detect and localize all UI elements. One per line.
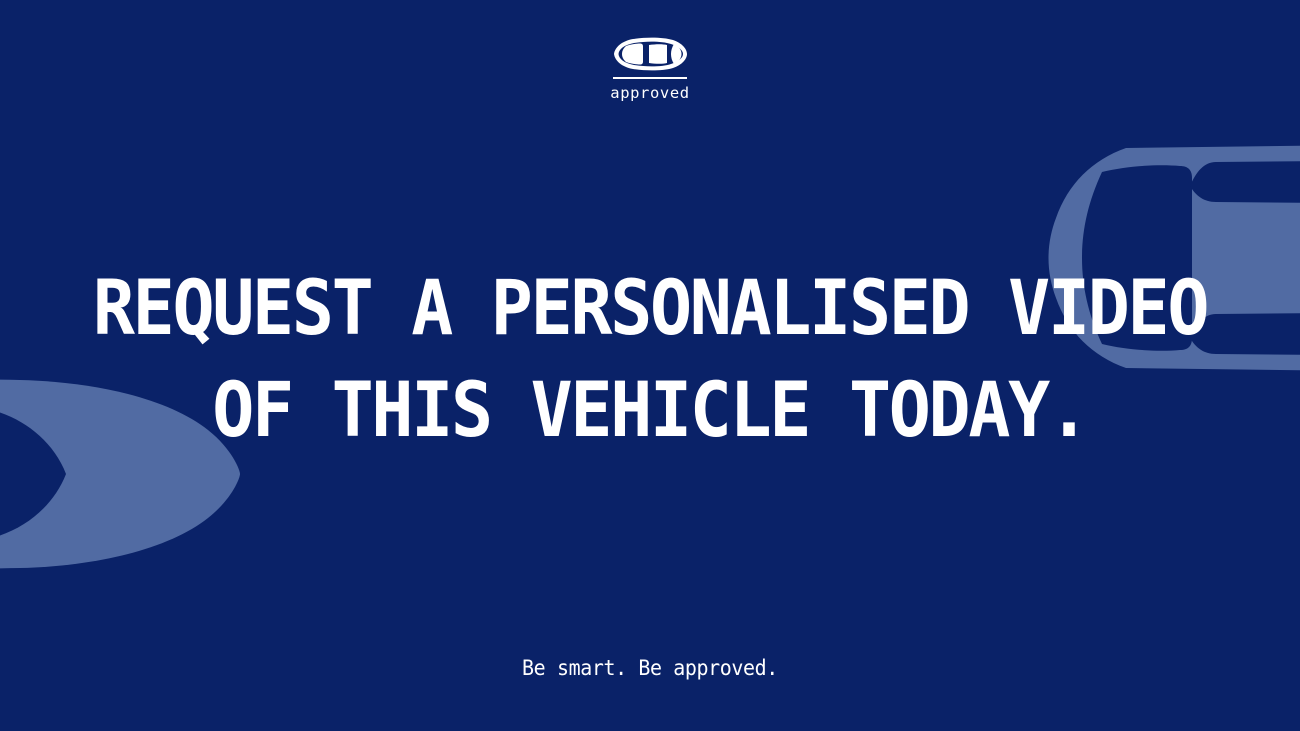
brand-wordmark: approved [610,86,689,102]
promo-banner: approved REQUEST A PERSONALISED VIDEO OF… [0,0,1300,731]
tagline: Be smart. Be approved. [33,655,1268,681]
page-title: REQUEST A PERSONALISED VIDEO OF THIS VEH… [0,268,1300,450]
headline-line-1: REQUEST A PERSONALISED VIDEO [52,268,1248,348]
headline-line-2: OF THIS VEHICLE TODAY. [52,370,1248,450]
car-top-view-icon [611,36,689,72]
brand-logo: approved [0,36,1300,102]
brand-rule-icon [613,77,687,79]
